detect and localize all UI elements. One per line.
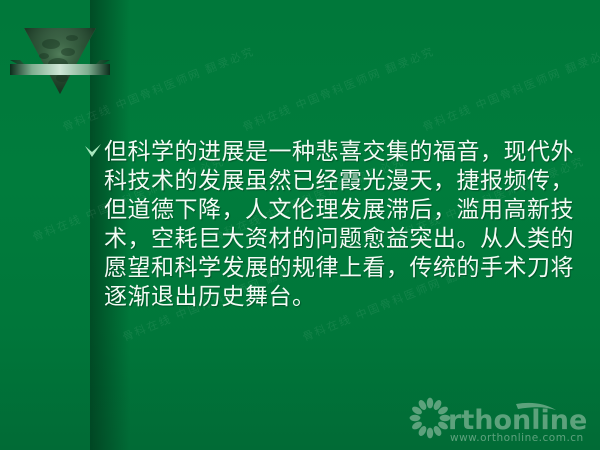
bullet-text: 但科学的进展是一种悲喜交集的福音，现代外科技术的发展虽然已经霞光漫天，捷报频传，… [104,138,584,312]
bullet-item: 但科学的进展是一种悲喜交集的福音，现代外科技术的发展虽然已经霞光漫天，捷报频传，… [84,138,584,312]
orthonline-watermark: rthonline www.orthonline.com.cn [404,396,594,446]
triangle-logo [6,20,114,98]
watermark-line: 骨科在线 中国骨科医师网 翻录必究 [420,43,600,135]
watermark-line: 骨科在线 中国骨科医师网 翻录必究 [240,43,437,135]
slide-body: 但科学的进展是一种悲喜交集的福音，现代外科技术的发展虽然已经霞光漫天，捷报频传，… [84,138,584,312]
slide-canvas: 骨科在线 中国骨科医师网 翻录必究 骨科在线 中国骨科医师网 翻录必究 骨科在线… [0,0,600,450]
orthonline-ring-icon [410,398,451,439]
check-tick-icon [84,144,104,160]
brand-url: www.orthonline.com.cn [450,432,584,444]
